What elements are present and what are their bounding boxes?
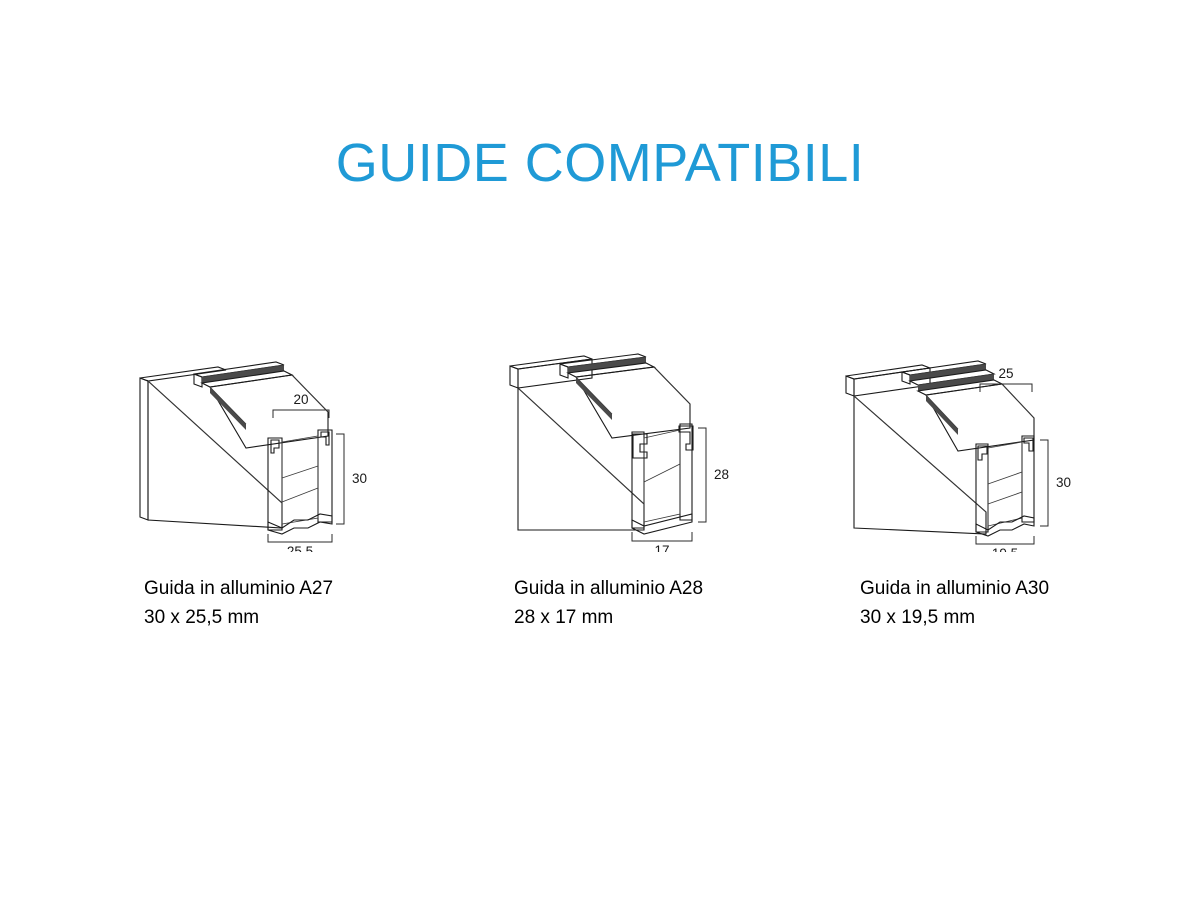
page-title: GUIDE COMPATIBILI	[0, 136, 1200, 190]
product-size-a28: 28 x 17 mm	[514, 603, 834, 632]
product-a30: 25 30 19,5 Guida in alluminio A30 30 x 1…	[828, 352, 1168, 652]
dimension-label-17: 17	[654, 543, 669, 552]
dimension-height-a28: 28	[698, 428, 729, 522]
product-caption-a28: Guida in alluminio A28 28 x 17 mm	[514, 574, 834, 632]
product-caption-a27: Guida in alluminio A27 30 x 25,5 mm	[144, 574, 464, 632]
dimension-label-25-5: 25,5	[287, 544, 313, 552]
dimension-bottom-width-a28: 17	[632, 532, 692, 552]
dimension-bottom-width-a30: 19,5	[976, 536, 1034, 552]
product-name-a30: Guida in alluminio A30	[860, 574, 1180, 603]
slide-canvas: GUIDE COMPATIBILI	[0, 0, 1200, 900]
product-name-a28: Guida in alluminio A28	[514, 574, 834, 603]
dimension-height-a27: 30	[336, 434, 367, 524]
dimension-label-25: 25	[998, 366, 1013, 381]
profile-drawing-a27: 20 30 25,5	[122, 352, 462, 552]
product-a27: 20 30 25,5 Guida in alluminio A27 30 x 2…	[122, 352, 462, 652]
product-caption-a30: Guida in alluminio A30 30 x 19,5 mm	[860, 574, 1180, 632]
dimension-label-30: 30	[1056, 475, 1071, 490]
dimension-label-28: 28	[714, 467, 729, 482]
product-size-a27: 30 x 25,5 mm	[144, 603, 464, 632]
product-name-a27: Guida in alluminio A27	[144, 574, 464, 603]
product-size-a30: 30 x 19,5 mm	[860, 603, 1180, 632]
product-a28: 28 17 Guida in alluminio A28 28 x 17 mm	[492, 352, 832, 652]
dimension-height-a30: 30	[1040, 440, 1071, 526]
dimension-label-19-5: 19,5	[992, 546, 1018, 552]
profile-drawing-a28: 28 17	[492, 352, 832, 552]
dimension-label-20: 20	[293, 392, 308, 407]
dimension-bottom-width-a27: 25,5	[268, 534, 332, 552]
dimension-label-30: 30	[352, 471, 367, 486]
profile-drawing-a30: 25 30 19,5	[828, 352, 1168, 552]
